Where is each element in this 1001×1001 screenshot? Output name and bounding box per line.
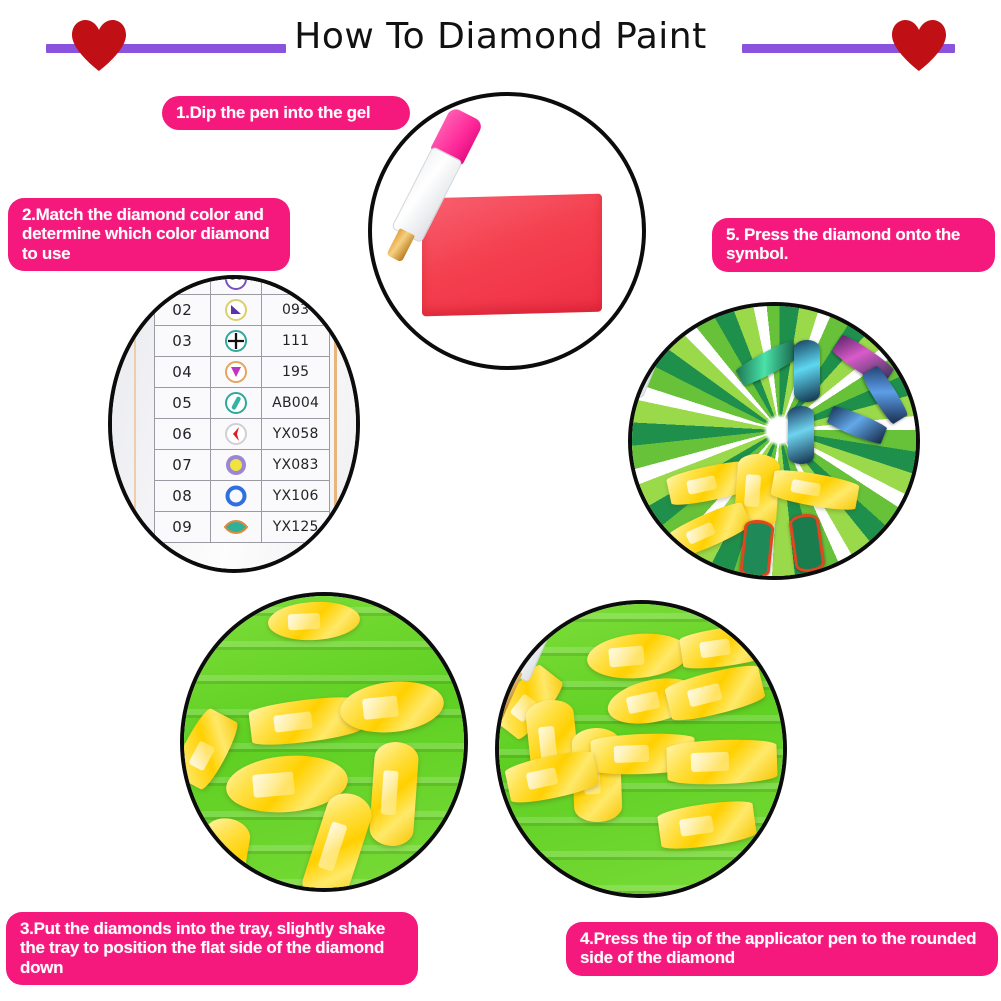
chart-number: 05: [155, 388, 211, 419]
table-row: 05 AB004: [155, 388, 330, 419]
step-4-photo: [495, 600, 787, 898]
chart-number: 02: [155, 295, 211, 326]
step-2-label: 2.Match the diamond color and determine …: [8, 198, 290, 271]
filled-triangle-icon: [210, 295, 262, 326]
step-5-label: 5. Press the diamond onto the symbol.: [712, 218, 995, 272]
chart-number: 07: [155, 450, 211, 481]
slash-bar-icon: [210, 388, 262, 419]
pen-tip: [632, 385, 636, 434]
chart-number: [155, 279, 211, 295]
chart-number: 08: [155, 481, 211, 512]
table-row: 08 YX106: [155, 481, 330, 512]
step-1-photo: [368, 92, 646, 370]
chart-paper-edge-right: [334, 279, 337, 569]
chart-number: 04: [155, 357, 211, 388]
filled-dot-icon: [210, 450, 262, 481]
table-row: 07 YX083: [155, 450, 330, 481]
chart-paper-edge-left: [134, 279, 136, 569]
chart-code: 195: [262, 357, 330, 388]
chart-code: YX106: [262, 481, 330, 512]
step-5-photo: [628, 302, 920, 580]
table-row: 03 111: [155, 326, 330, 357]
magenta-triangle-icon: [210, 357, 262, 388]
step-3-photo: [180, 592, 468, 892]
yellow-diamond: [368, 741, 419, 848]
table-row: 02 093: [155, 295, 330, 326]
page-title: How To Diamond Paint: [0, 16, 1001, 57]
open-ring-icon: [210, 481, 262, 512]
pink-gel-pad: [422, 194, 602, 317]
gem-petal: [794, 340, 820, 402]
left-arrowhead-icon: [210, 419, 262, 450]
diamond-color-chart-table: 028 02 093: [154, 279, 330, 543]
leaf-shape-icon: [210, 512, 262, 543]
double-dot-circle-icon: [210, 279, 262, 295]
chart-code: 028: [262, 279, 330, 295]
table-row: 06 YX058: [155, 419, 330, 450]
table-row: 04 195: [155, 357, 330, 388]
step-2-photo: 028 02 093: [108, 275, 360, 573]
chart-code: AB004: [262, 388, 330, 419]
plus-cross-icon: [210, 326, 262, 357]
chart-code: 093: [262, 295, 330, 326]
header: How To Diamond Paint: [0, 0, 1001, 88]
yellow-diamond: [666, 738, 777, 786]
chart-number: 06: [155, 419, 211, 450]
chart-code: YX058: [262, 419, 330, 450]
table-row: 09 YX125: [155, 512, 330, 543]
how-to-diamond-paint-infographic: How To Diamond Paint 1.Dip the pen into …: [0, 0, 1001, 1001]
unfilled-symbol-leaf: [739, 519, 775, 576]
chart-code: 111: [262, 326, 330, 357]
chart-code: YX125: [262, 512, 330, 543]
step-4-label: 4.Press the tip of the applicator pen to…: [566, 922, 998, 976]
step-3-label: 3.Put the diamonds into the tray, slight…: [6, 912, 418, 985]
chart-number: 03: [155, 326, 211, 357]
chart-code: YX083: [262, 450, 330, 481]
chart-number: 09: [155, 512, 211, 543]
table-row: 028: [155, 279, 330, 295]
pen-tip: [386, 228, 415, 262]
gem-petal: [788, 406, 814, 464]
